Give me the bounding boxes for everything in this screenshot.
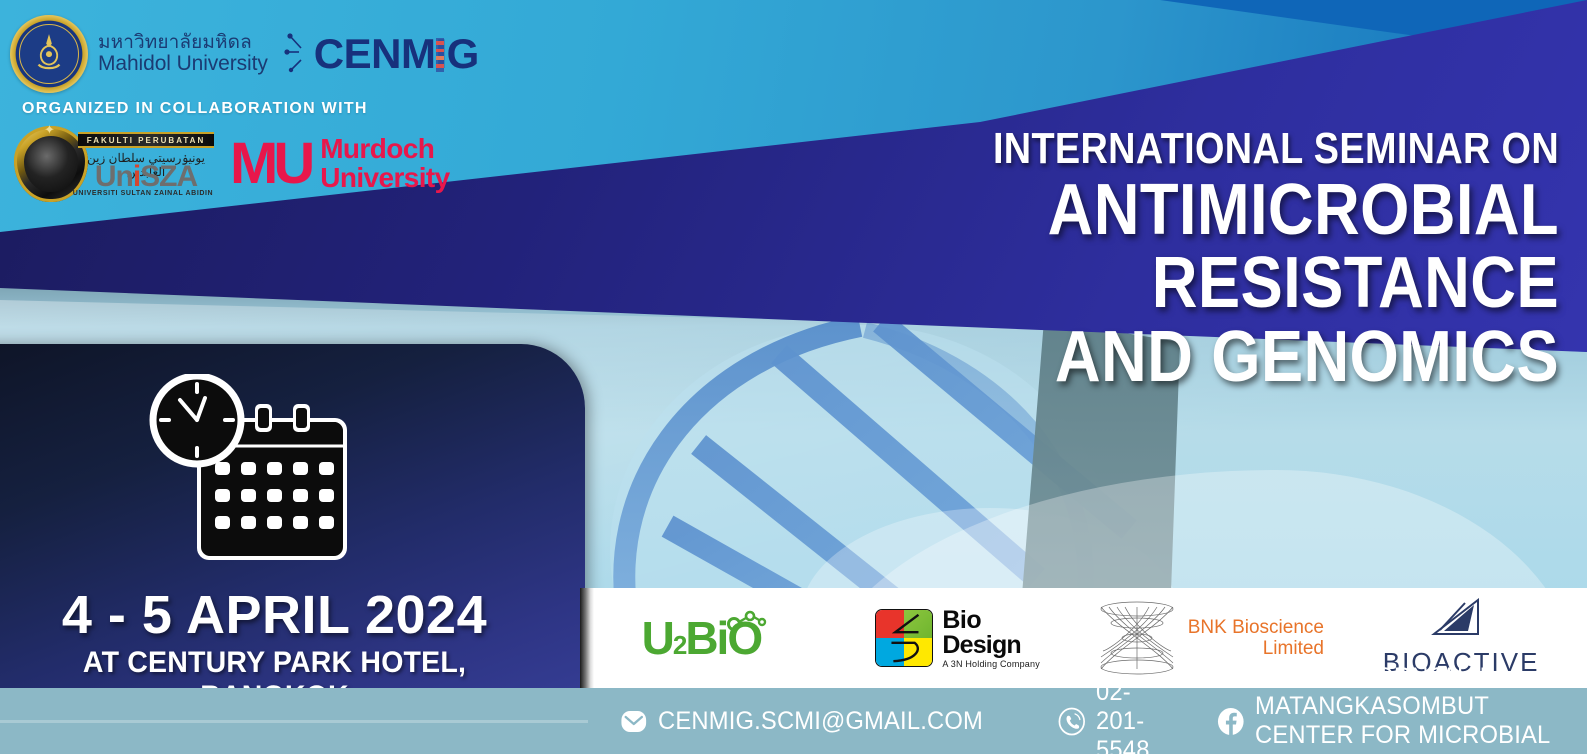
phone-icon [1058, 707, 1086, 736]
unisza-faculty-text: FAKULTI PERUBATAN [87, 136, 205, 145]
title-line-2: ANTIMICROBIAL RESISTANCE [679, 174, 1559, 321]
unisza-faculty-plate: FAKULTI PERUBATAN [78, 132, 214, 148]
murdoch-university-logo: MU Murdoch University [230, 135, 450, 192]
biodesign-wordmark: Bio Design A 3N Holding Company [942, 608, 1040, 669]
murdoch-name: Murdoch University [320, 135, 449, 192]
facebook-icon [1217, 707, 1245, 736]
bnk-line2: Limited [1188, 638, 1324, 659]
hyperboloid-mesh-icon [1095, 601, 1179, 675]
title-line-1: INTERNATIONAL SEMINAR ON [699, 124, 1559, 174]
mahidol-university-name: มหาวิทยาลัยมหิดล Mahidol University [98, 33, 268, 75]
footer-top-divider [0, 720, 588, 723]
u2bio-wordmark: U2BiO [642, 611, 761, 665]
u2bio-2: 2 [673, 630, 685, 660]
collaboration-label: ORGANIZED IN COLLABORATION WITH [22, 100, 368, 118]
murdoch-line1: Murdoch [320, 133, 434, 164]
seminar-title: INTERNATIONAL SEMINAR ON ANTIMICROBIAL R… [559, 124, 1559, 394]
murdoch-monogram: MU [230, 138, 310, 189]
conference-banner: มหาวิทยาลัยมหิดล Mahidol University CENM… [0, 0, 1587, 754]
footer-phone[interactable]: 02-201-5548 [1058, 678, 1150, 754]
unisza-wordmark-prefix: Un [95, 160, 133, 193]
footer-facebook-text: CENMIG-PORNCHAI MATANGKASOMBUT CENTER FO… [1255, 663, 1569, 754]
footer-email-text: CENMIG.SCMI@GMAIL.COM [658, 707, 983, 736]
unisza-logo: ✦ FAKULTI PERUBATAN يونيۏرسيتي سلطان زين… [14, 124, 214, 204]
cenmig-wordmark: CENMIG [314, 30, 479, 78]
sponsor-u2bio: U2BiO [580, 608, 832, 668]
biodesign-tagline: A 3N Holding Company [942, 660, 1040, 669]
biodesign-square-icon [875, 609, 933, 667]
sponsor-biodesign: Bio Design A 3N Holding Company [832, 608, 1084, 669]
unisza-crescent-star-icon: ✦ [44, 122, 56, 134]
mahidol-crown-glyph [30, 32, 68, 74]
footer-email[interactable]: CENMIG.SCMI@GMAIL.COM [620, 707, 983, 736]
unisza-wordmark: UniSZA [76, 162, 216, 192]
u2bio-bio: BiO [685, 612, 761, 664]
collaboration-logo-row: ✦ FAKULTI PERUBATAN يونيۏرسيتي سلطان زين… [14, 124, 450, 204]
unisza-wordmark-suffix: SZA [140, 160, 197, 193]
event-date-panel: 4 - 5 APRIL 2024 AT CENTURY PARK HOTEL, … [0, 344, 585, 688]
unisza-full-name: UNIVERSITI SULTAN ZAINAL ABIDIN [70, 190, 216, 197]
mahidol-thai-name: มหาวิทยาลัยมหิดล [98, 33, 268, 53]
mahidol-english-name: Mahidol University [98, 53, 268, 75]
triangle-peak-icon [1422, 598, 1500, 642]
bnk-line1: BNK Bioscience [1188, 617, 1324, 638]
biodesign-line1: Bio [942, 608, 1040, 633]
calendar-clock-icon [135, 374, 365, 574]
bnk-wordmark: BNK Bioscience Limited [1188, 617, 1324, 660]
event-date: 4 - 5 APRIL 2024 [0, 584, 549, 646]
chromosome-icon [433, 38, 447, 72]
biodesign-line2: Design [942, 633, 1040, 658]
contact-footer: CENMIG.SCMI@GMAIL.COM 02-201-5548 CENMIG… [0, 688, 1587, 754]
mahidol-seal-icon [10, 15, 88, 93]
footer-phone-text: 02-201-5548 [1096, 678, 1150, 754]
u2bio-u: U [642, 612, 673, 664]
footer-facebook[interactable]: CENMIG-PORNCHAI MATANGKASOMBUT CENTER FO… [1217, 663, 1569, 754]
title-line-3: AND GENOMICS [679, 321, 1559, 394]
cenmig-logo: CENMIG [284, 30, 479, 78]
institution-logo-row: มหาวิทยาลัยมหิดล Mahidol University CENM… [10, 10, 550, 98]
envelope-icon [620, 707, 648, 736]
biodesign-s-curve [876, 610, 932, 666]
globe-icon [284, 30, 318, 78]
murdoch-line2: University [320, 162, 449, 193]
